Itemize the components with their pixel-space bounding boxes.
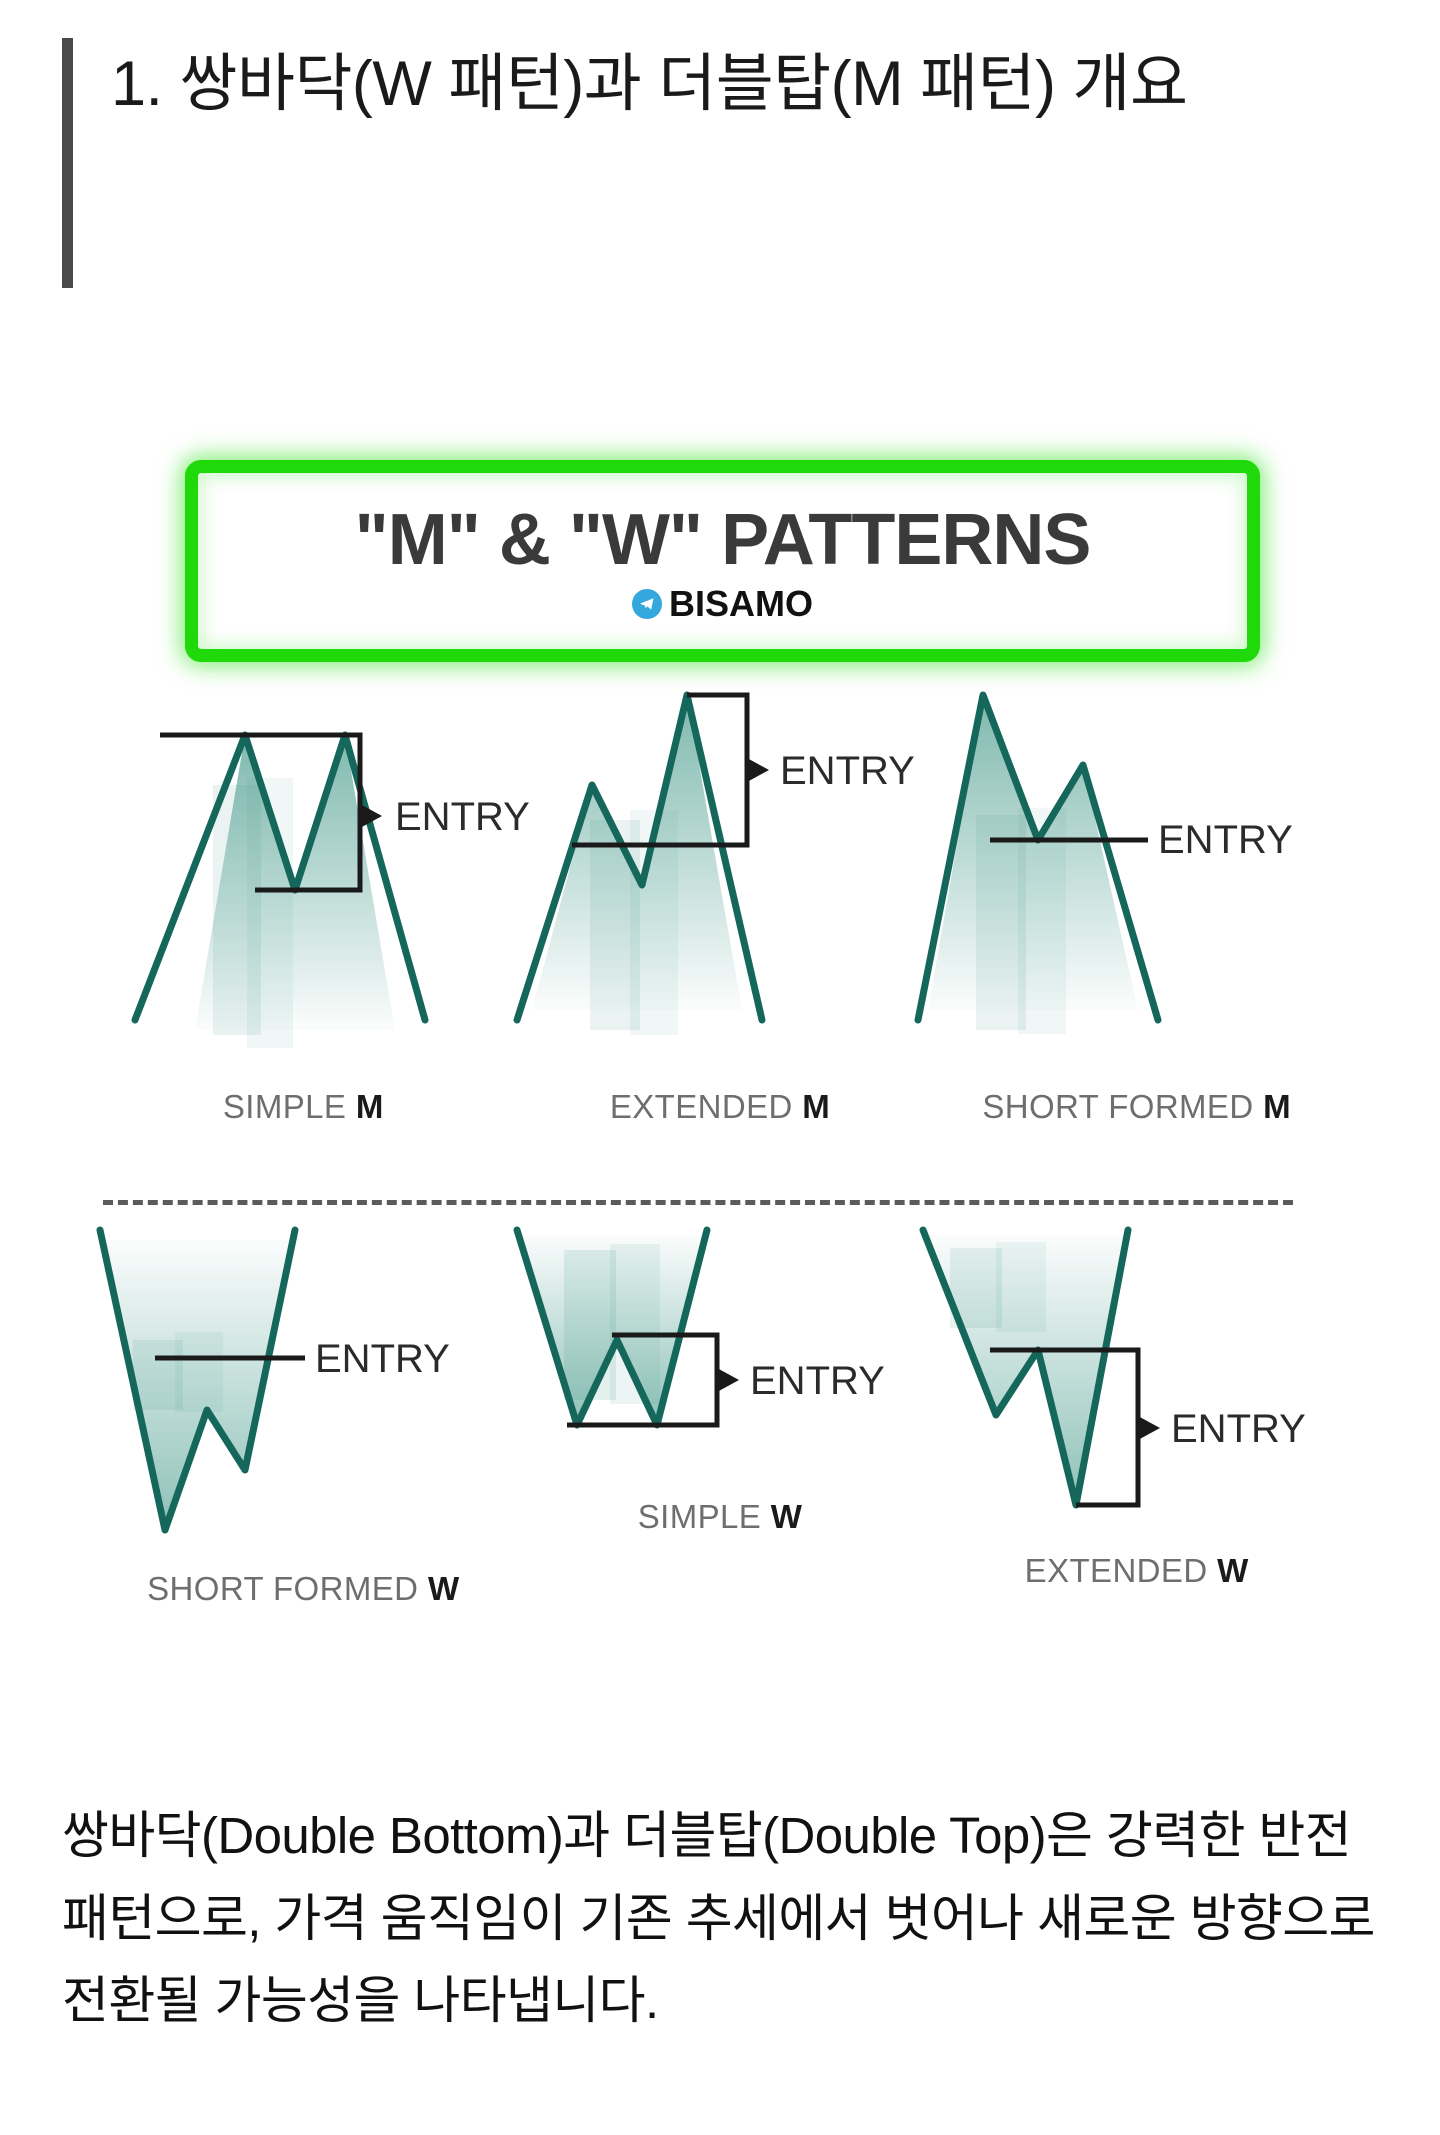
pattern-short-formed-m: ENTRY SHORT FORMED M bbox=[928, 690, 1345, 1190]
m-pattern-row: ENTRY SIMPLE M bbox=[95, 690, 1345, 1190]
pattern-simple-w: ENTRY SIMPLE W bbox=[512, 1230, 929, 1700]
patterns-infographic: "M" & "W" PATTERNS BISAMO bbox=[95, 440, 1345, 1730]
pattern-extended-w: ENTRY EXTENDED W bbox=[928, 1230, 1345, 1700]
body-paragraph: 쌍바닥(Double Bottom)과 더블탑(Double Top)은 강력한… bbox=[62, 1795, 1382, 2043]
simple-w-chart: ENTRY bbox=[512, 1230, 932, 1630]
patterns-banner: "M" & "W" PATTERNS BISAMO bbox=[185, 460, 1260, 662]
svg-text:ENTRY: ENTRY bbox=[1158, 818, 1293, 862]
article-page: 1. 쌍바닥(W 패턴)과 더블탑(M 패턴) 개요 "M" & "W" PAT… bbox=[0, 0, 1440, 2135]
telegram-icon bbox=[632, 589, 662, 619]
svg-text:ENTRY: ENTRY bbox=[395, 795, 530, 839]
svg-text:ENTRY: ENTRY bbox=[780, 749, 915, 793]
short-formed-m-chart: ENTRY bbox=[928, 690, 1348, 1120]
pattern-short-formed-w: ENTRY SHORT FORMED W bbox=[95, 1230, 512, 1700]
section-divider bbox=[103, 1200, 1293, 1205]
banner-brand-name: BISAMO bbox=[669, 586, 813, 622]
svg-text:ENTRY: ENTRY bbox=[750, 1359, 885, 1403]
extended-m-chart: ENTRY bbox=[512, 690, 932, 1120]
heading-accent-bar bbox=[62, 38, 73, 288]
section-heading: 1. 쌍바닥(W 패턴)과 더블탑(M 패턴) 개요 bbox=[62, 38, 1382, 288]
banner-brand-row: BISAMO bbox=[632, 586, 813, 622]
svg-text:ENTRY: ENTRY bbox=[315, 1337, 450, 1381]
pattern-caption: EXTENDED W bbox=[928, 1552, 1345, 1590]
svg-text:ENTRY: ENTRY bbox=[1171, 1407, 1306, 1451]
banner-wrapper: "M" & "W" PATTERNS BISAMO bbox=[185, 460, 1260, 662]
banner-title: "M" & "W" PATTERNS bbox=[355, 504, 1091, 576]
pattern-extended-m: ENTRY EXTENDED M bbox=[512, 690, 929, 1190]
pattern-caption: SIMPLE M bbox=[95, 1088, 512, 1126]
pattern-simple-m: ENTRY SIMPLE M bbox=[95, 690, 512, 1190]
simple-m-chart: ENTRY bbox=[95, 690, 515, 1120]
pattern-caption: SHORT FORMED W bbox=[95, 1570, 512, 1608]
w-pattern-row: ENTRY SHORT FORMED W bbox=[95, 1230, 1345, 1700]
pattern-caption: SIMPLE W bbox=[512, 1498, 929, 1536]
pattern-caption: SHORT FORMED M bbox=[928, 1088, 1345, 1126]
page-title: 1. 쌍바닥(W 패턴)과 더블탑(M 패턴) 개요 bbox=[111, 38, 1187, 131]
pattern-caption: EXTENDED M bbox=[512, 1088, 929, 1126]
